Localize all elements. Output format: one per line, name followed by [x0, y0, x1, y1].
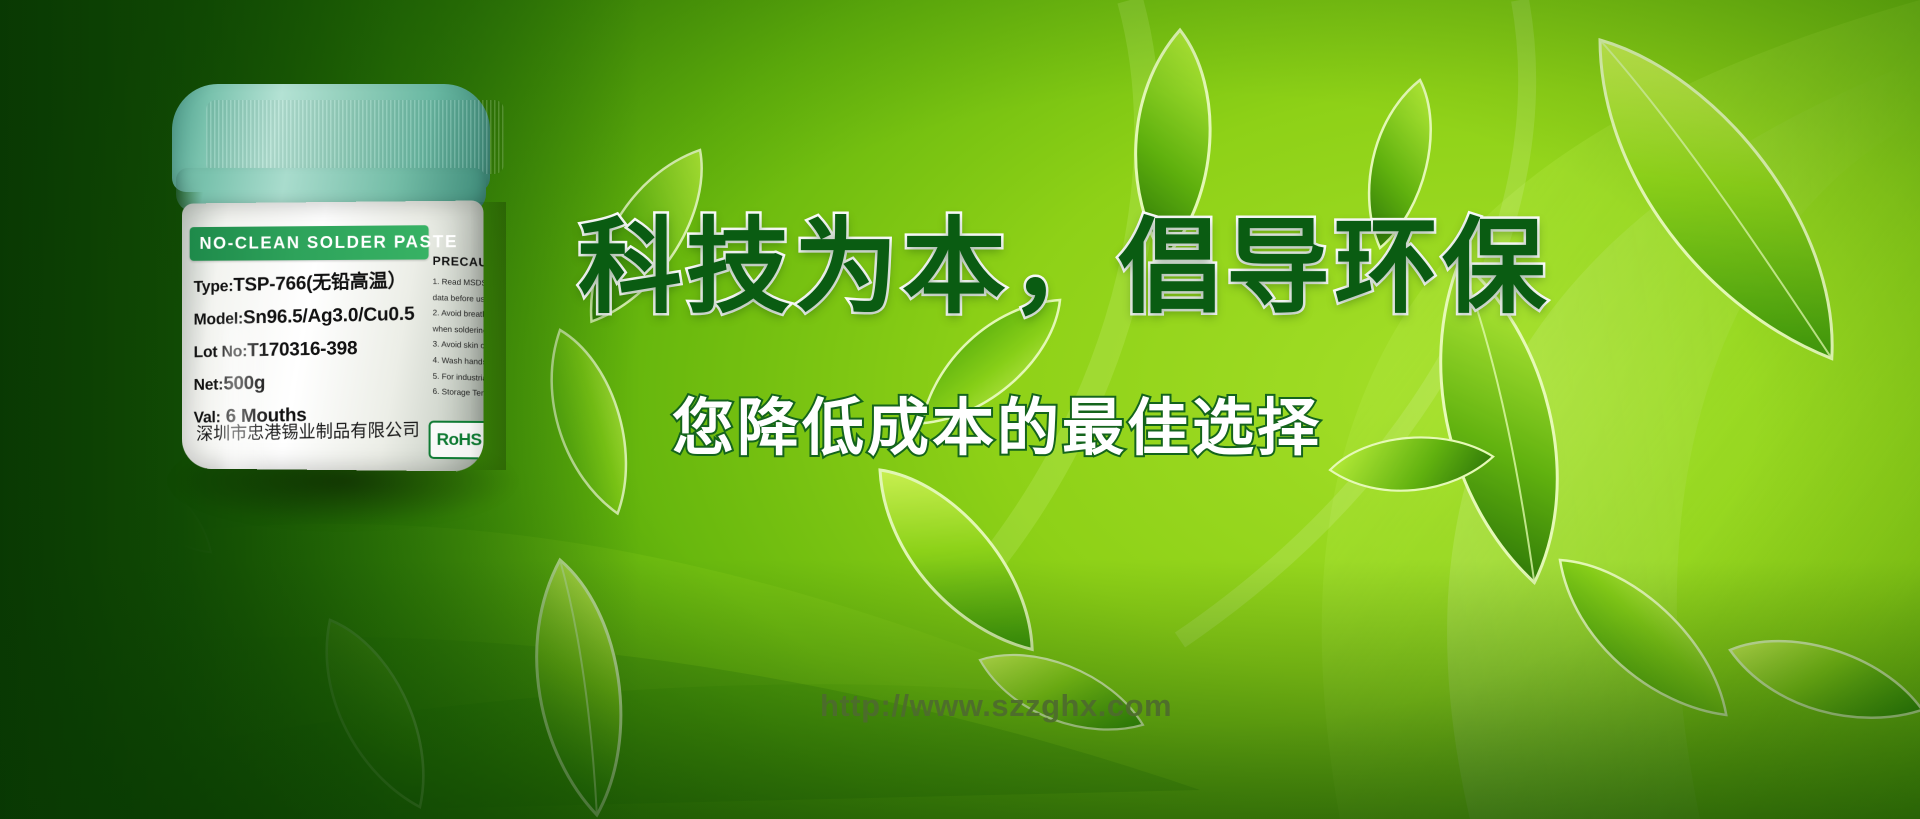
spec-row-type: Type:TSP-766(无铅高温） — [194, 265, 429, 298]
precaution-line: 6. Storage Temp — [433, 386, 484, 401]
spec-value: T170316-398 — [247, 338, 357, 361]
promo-banner: NO-CLEAN SOLDER PASTE Type:TSP-766(无铅高温）… — [0, 0, 1920, 819]
subheading: 您降低成本的最佳选择 — [672, 398, 1322, 460]
spec-value: Sn96.5/Ag3.0/Cu0.5 — [243, 304, 414, 329]
label-band: NO-CLEAN SOLDER PASTE — [190, 225, 429, 261]
spec-key: Type: — [194, 278, 234, 296]
spec-key: Lot No: — [194, 343, 248, 361]
label-spec-list: Type:TSP-766(无铅高温） Model:Sn96.5/Ag3.0/Cu… — [194, 268, 429, 439]
product-jar: NO-CLEAN SOLDER PASTE Type:TSP-766(无铅高温）… — [148, 84, 538, 508]
spec-key: Model: — [194, 311, 243, 329]
precaution-line: when soldering — [433, 323, 484, 338]
spec-value: 500g — [223, 373, 265, 395]
spec-row-model: Model:Sn96.5/Ag3.0/Cu0.5 — [194, 303, 429, 330]
spec-value: TSP-766(无铅高温） — [233, 271, 406, 296]
precaution-line: 1. Read MSDS and — [433, 276, 484, 291]
product-label: NO-CLEAN SOLDER PASTE Type:TSP-766(无铅高温）… — [182, 200, 484, 471]
spec-row-lot: Lot No:T170316-398 — [194, 337, 429, 364]
jar-body: NO-CLEAN SOLDER PASTE Type:TSP-766(无铅高温）… — [182, 200, 484, 471]
precaution-line: 2. Avoid breathing — [433, 307, 484, 322]
precaution-title: PRECAUTION — [433, 254, 484, 271]
label-band-title: NO-CLEAN SOLDER PASTE — [190, 232, 458, 255]
website-url[interactable]: http://www.szzghx.com — [820, 688, 1172, 724]
headline: 科技为本，倡导环保 — [578, 216, 1550, 320]
company-name: 深圳市忠港锡业制品有限公司 — [196, 416, 420, 446]
spec-row-net: Net:500g — [194, 370, 429, 396]
rohs-logo: RoHS — [429, 421, 484, 460]
precaution-block: PRECAUTION 1. Read MSDS and data before … — [433, 254, 484, 406]
spec-key: Net: — [194, 377, 224, 394]
precaution-line: data before us — [433, 292, 484, 307]
precaution-line: 4. Wash hands aft — [433, 355, 484, 370]
precaution-line: 5. For industrial u — [433, 370, 484, 385]
jar-lid-ribs — [206, 100, 504, 174]
precaution-line: 3. Avoid skin cont — [433, 339, 484, 354]
